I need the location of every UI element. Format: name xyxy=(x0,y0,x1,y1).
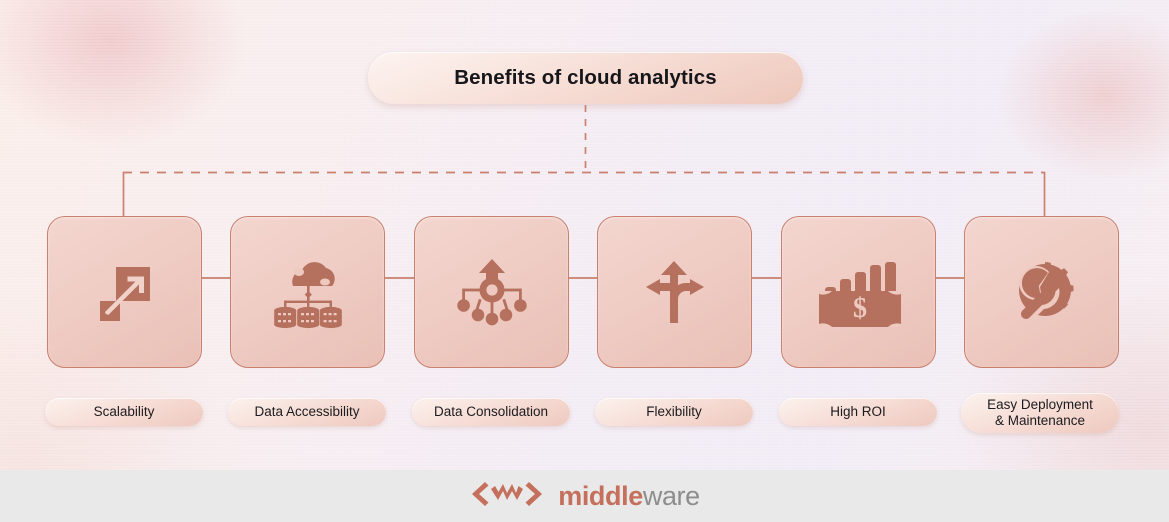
label-pill-high-roi[interactable]: High ROI xyxy=(779,398,937,426)
label-text: Scalability xyxy=(94,404,155,421)
cloud-databases-icon xyxy=(265,252,351,332)
label-pill-scalability[interactable]: Scalability xyxy=(45,398,203,426)
benefit-card-data-consolidation[interactable] xyxy=(414,216,569,368)
benefit-card-flexibility[interactable] xyxy=(597,216,752,368)
svg-text:$: $ xyxy=(853,293,867,324)
label-text-line-2: & Maintenance xyxy=(995,413,1085,429)
label-text: High ROI xyxy=(830,404,886,421)
label-pill-data-consolidation[interactable]: Data Consolidation xyxy=(412,398,570,426)
diagram-title-pill: Benefits of cloud analytics xyxy=(368,52,803,104)
label-pill-flexibility[interactable]: Flexibility xyxy=(595,398,753,426)
gear-wrench-icon xyxy=(1000,250,1084,334)
brand-part-a: middle xyxy=(558,481,643,511)
hub-nodes-arrow-icon xyxy=(451,253,533,331)
benefit-card-easy-deployment[interactable] xyxy=(964,216,1119,368)
infographic-stage: Benefits of cloud analytics xyxy=(0,0,1169,522)
banknote-dollar-bar-chart-icon: $ xyxy=(813,253,905,331)
label-text: Flexibility xyxy=(646,404,702,421)
page-title: Benefits of cloud analytics xyxy=(454,66,716,90)
benefit-card-high-roi[interactable]: $ xyxy=(781,216,936,368)
brand-part-b: ware xyxy=(643,481,700,511)
benefit-card-data-accessibility[interactable] xyxy=(230,216,385,368)
middleware-chevron-logo-icon xyxy=(469,479,545,514)
expand-arrow-squares-icon xyxy=(86,253,164,331)
benefit-card-scalability[interactable] xyxy=(47,216,202,368)
label-text-line-1: Easy Deployment xyxy=(987,397,1093,413)
label-pill-data-accessibility[interactable]: Data Accessibility xyxy=(228,398,386,426)
label-text: Data Accessibility xyxy=(254,404,359,421)
label-pill-easy-deployment[interactable]: Easy Deployment & Maintenance xyxy=(961,393,1119,433)
brand-wordmark: middleware xyxy=(558,481,700,512)
three-way-direction-arrow-icon xyxy=(636,253,714,331)
footer-bar: middleware xyxy=(0,470,1169,522)
label-text: Data Consolidation xyxy=(434,404,548,421)
